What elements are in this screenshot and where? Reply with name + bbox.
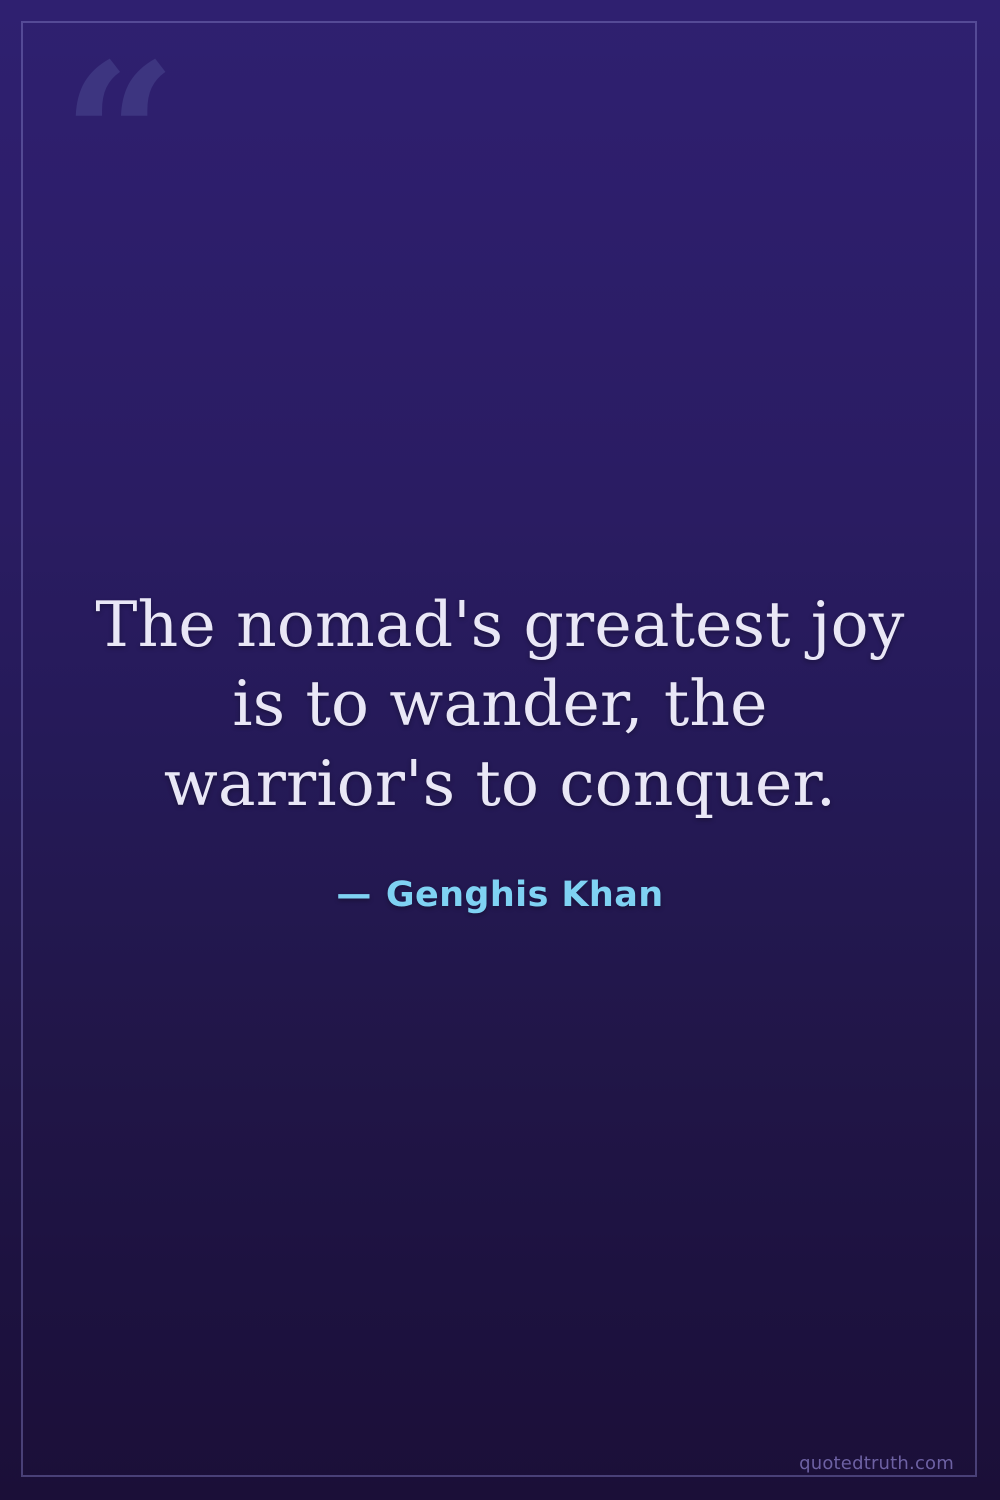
site-watermark: quotedtruth.com [799,1453,954,1474]
attribution-dash: — [336,875,371,915]
quote-poster: “ The nomad's greatest joy is to wander,… [0,0,1000,1500]
poster-content: The nomad's greatest joy is to wander, t… [0,0,1000,1500]
quote-text: The nomad's greatest joy is to wander, t… [95,585,905,823]
attribution-author-name: Genghis Khan [386,875,664,915]
quote-attribution: —Genghis Khan [336,875,663,915]
